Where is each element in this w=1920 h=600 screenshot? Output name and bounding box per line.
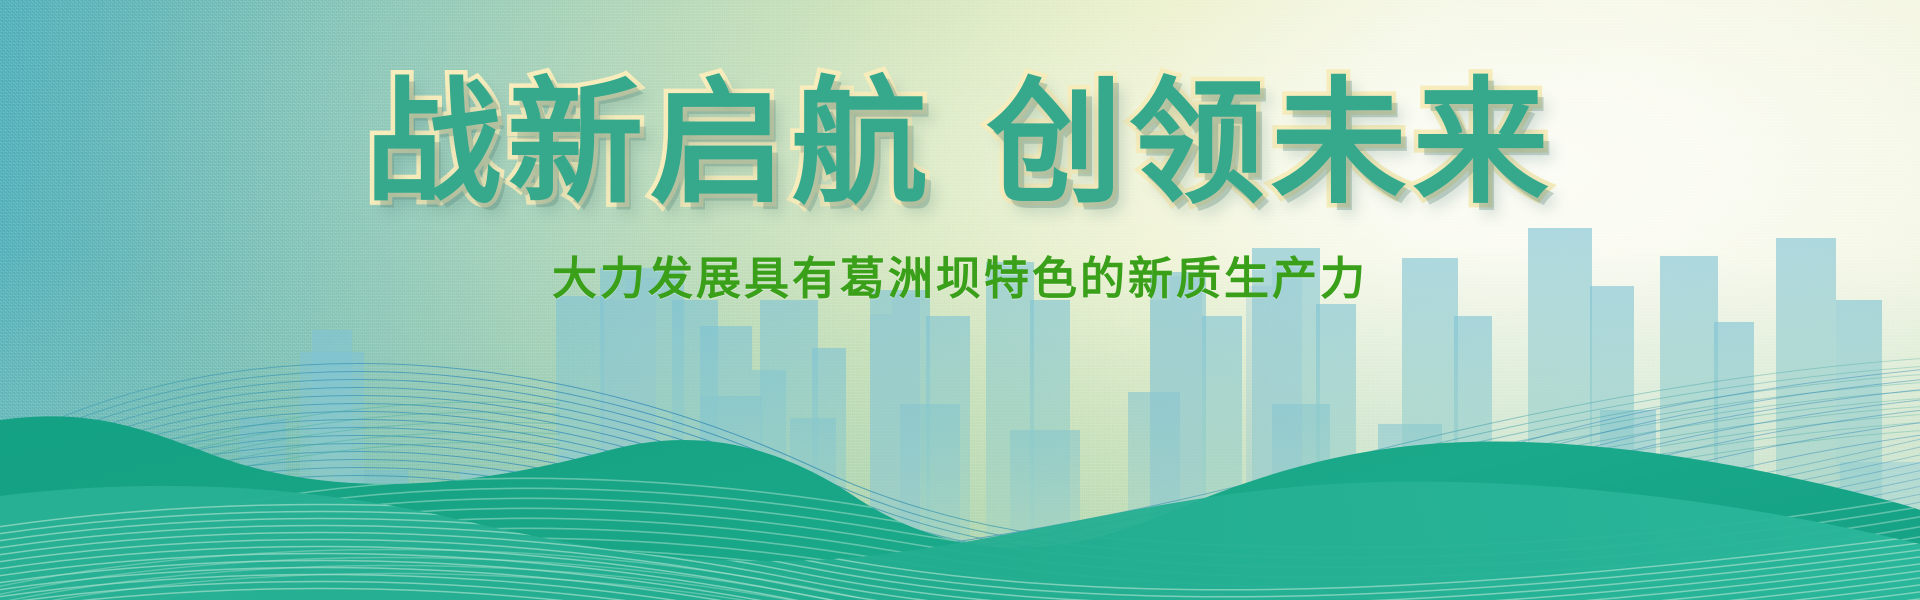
layered-green-mountain-waves <box>0 300 1920 600</box>
banner-root: 战新启航 创领未来 大力发展具有葛洲坝特色的新质生产力 <box>0 0 1920 600</box>
